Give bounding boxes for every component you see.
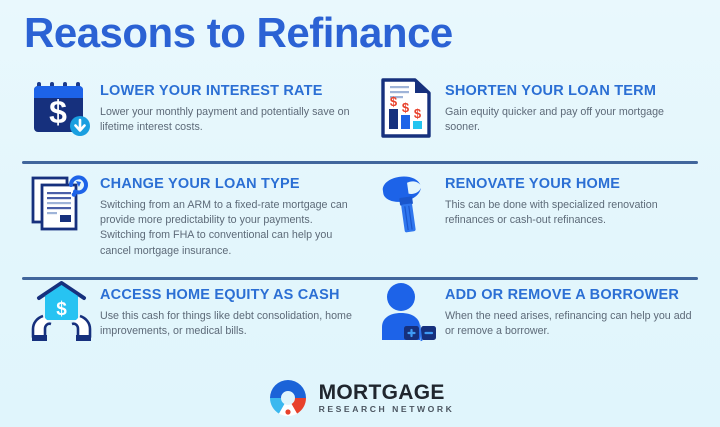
person-plus-minus-icon xyxy=(369,278,445,354)
reason-heading: LOWER YOUR INTEREST RATE xyxy=(100,84,361,100)
reason-heading: RENOVATE YOUR HOME xyxy=(445,177,702,193)
svg-text:$: $ xyxy=(414,106,422,121)
reason-heading: ADD OR REMOVE A BORROWER xyxy=(445,288,702,304)
reason-item-change-loan-type: CHANGE YOUR LOAN TYPE Switching from an … xyxy=(18,167,361,259)
page-title: Reasons to Refinance xyxy=(24,10,453,56)
reasons-row-1: $ LOWER YOUR INTEREST RATE Lower your mo… xyxy=(0,74,720,150)
divider-row-2 xyxy=(22,277,698,280)
reason-heading: CHANGE YOUR LOAN TYPE xyxy=(100,177,361,193)
reason-item-access-home-equity: $ ACCESS HOME EQUITY AS CASH Use this ca… xyxy=(18,278,361,354)
reason-item-add-remove-borrower: ADD OR REMOVE A BORROWER When the need a… xyxy=(361,278,702,354)
infographic-canvas: Reasons to Refinance $ xyxy=(0,0,720,427)
documents-question-icon xyxy=(24,167,100,243)
reason-body: Gain equity quicker and pay off your mor… xyxy=(445,105,693,135)
reason-item-lower-interest-rate: $ LOWER YOUR INTEREST RATE Lower your mo… xyxy=(18,74,361,150)
reason-heading: ACCESS HOME EQUITY AS CASH xyxy=(100,288,361,304)
reason-text: ADD OR REMOVE A BORROWER When the need a… xyxy=(445,278,702,339)
reason-text: SHORTEN YOUR LOAN TERM Gain equity quick… xyxy=(445,74,702,135)
brand-text: MORTGAGE RESEARCH NETWORK xyxy=(319,382,455,414)
svg-text:$: $ xyxy=(49,94,67,130)
divider-row-1 xyxy=(22,161,698,164)
reason-item-renovate-home: RENOVATE YOUR HOME This can be done with… xyxy=(361,167,702,259)
footer-logo: MORTGAGE RESEARCH NETWORK xyxy=(0,376,720,420)
reason-text: CHANGE YOUR LOAN TYPE Switching from an … xyxy=(100,167,361,259)
reasons-row-2: CHANGE YOUR LOAN TYPE Switching from an … xyxy=(0,167,720,259)
reason-body: Switching from an ARM to a fixed-rate mo… xyxy=(100,198,352,259)
reason-item-shorten-loan-term: $ $ $ SHORTEN YOUR LOAN TERM Gain equity… xyxy=(361,74,702,150)
svg-text:$: $ xyxy=(402,100,410,115)
reason-heading: SHORTEN YOUR LOAN TERM xyxy=(445,84,702,100)
brand-tagline: RESEARCH NETWORK xyxy=(319,405,455,414)
hands-holding-house-dollar-icon: $ xyxy=(24,278,100,354)
svg-text:$: $ xyxy=(56,299,67,320)
svg-text:$: $ xyxy=(390,94,398,109)
reasons-row-3: $ ACCESS HOME EQUITY AS CASH Use this ca… xyxy=(0,278,720,354)
reason-text: ACCESS HOME EQUITY AS CASH Use this cash… xyxy=(100,278,361,339)
brand-name: MORTGAGE xyxy=(319,382,455,403)
reasons-grid: $ LOWER YOUR INTEREST RATE Lower your mo… xyxy=(0,74,720,354)
gauge-circle-logo-icon xyxy=(266,376,310,420)
reason-body: Use this cash for things like debt conso… xyxy=(100,309,352,339)
reason-body: When the need arises, refinancing can he… xyxy=(445,309,693,339)
calendar-dollar-down-icon: $ xyxy=(24,74,100,150)
hammer-icon xyxy=(369,167,445,243)
reason-text: RENOVATE YOUR HOME This can be done with… xyxy=(445,167,702,228)
reason-body: This can be done with specialized renova… xyxy=(445,198,693,228)
document-bar-chart-dollar-icon: $ $ $ xyxy=(369,74,445,150)
reason-body: Lower your monthly payment and potential… xyxy=(100,105,352,135)
reason-text: LOWER YOUR INTEREST RATE Lower your mont… xyxy=(100,74,361,135)
